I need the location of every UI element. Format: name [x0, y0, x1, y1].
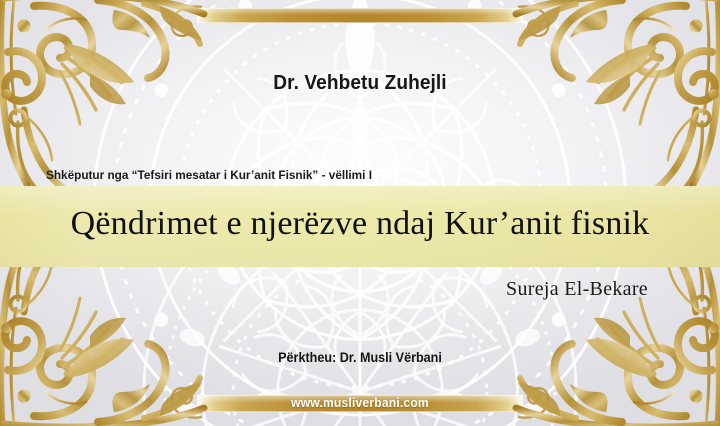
corner-filigree-ornament-icon: [0, 0, 209, 195]
corner-filigree-ornament-icon: [511, 0, 720, 195]
top-gold-rule: [197, 8, 523, 23]
source-note: Shkëputur nga “Tefsiri mesatar i Kur’ani…: [46, 168, 372, 182]
page-title: Qëndrimet e njerëzve ndaj Kur’anit fisni…: [0, 205, 720, 243]
translator-credit: Përktheu: Dr. Musli Vërbani: [22, 350, 699, 365]
surah-label: Sureja El-Bekare: [506, 278, 648, 301]
book-cover: Dr. Vehbetu Zuhejli Shkëputur nga “Tefsi…: [0, 0, 720, 426]
website-url: www.musliverbani.com: [14, 395, 705, 412]
author-name: Dr. Vehbetu Zuhejli: [25, 71, 695, 95]
